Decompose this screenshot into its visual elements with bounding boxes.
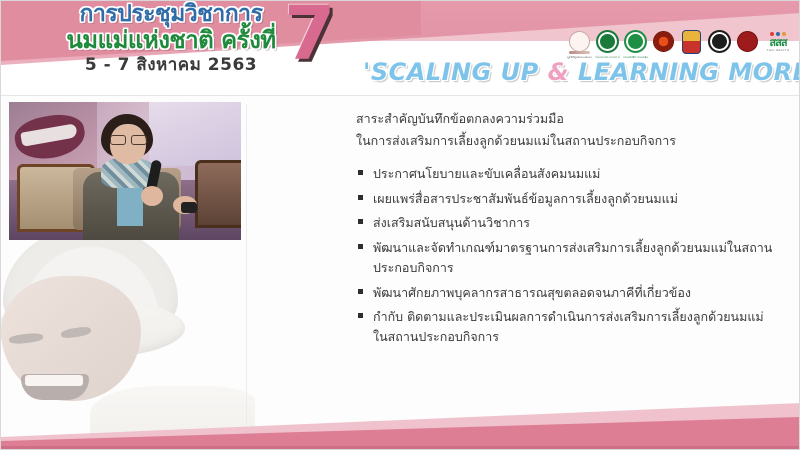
slide-content: สาระสำคัญบันทึกข้อตกลงความร่วมมือ ในการส…	[356, 108, 776, 352]
conference-title: การประชุมวิชาการ นมแม่แห่งชาติ ครั้งที่ …	[21, 3, 321, 74]
slogan-part2: LEARNING MORE'	[569, 58, 800, 86]
conference-title-line1: การประชุมวิชาการ	[21, 3, 321, 26]
speaker-on-stage-photo	[9, 102, 241, 240]
list-item: พัฒนาศักยภาพบุคลากรสาธารณสุขตลอดจนภาคีที…	[356, 283, 776, 303]
ministry-of-public-health-logo-icon: กรมอนามัย กระทรวงสาธารณสุข	[595, 28, 620, 55]
black-circular-institute-logo-icon	[707, 28, 732, 55]
slogan-ampersand: &	[548, 58, 569, 86]
list-item: พัฒนาและจัดทำเกณฑ์มาตรฐานการส่งเสริมการเ…	[356, 238, 776, 278]
slide-body: สาระสำคัญบันทึกข้อตกลงความร่วมมือ ในการส…	[1, 96, 800, 450]
list-item: กำกับ ติดตามและประเมินผลการดำเนินการส่งเ…	[356, 307, 776, 347]
content-divider	[246, 104, 247, 424]
footer-edge-line	[1, 446, 800, 449]
list-item: ประกาศนโยบายและขับเคลื่อนสังคมนมแม่	[356, 164, 776, 184]
edition-number: 7	[284, 1, 336, 71]
slide-footer	[1, 403, 800, 449]
government-seal-logo-icon	[651, 28, 676, 55]
conference-date: 5 - 7 สิงหาคม 2563	[21, 57, 321, 74]
conference-title-line2: นมแม่แห่งชาติ ครั้งที่	[21, 28, 321, 52]
conference-slogan: 'SCALING UP & LEARNING MORE'	[363, 58, 793, 86]
content-lede: สาระสำคัญบันทึกข้อตกลงความร่วมมือ ในการส…	[356, 108, 776, 152]
royal-patronage-emblem-icon: มูลนิธิศูนย์นมแม่แห่งประเทศไทย	[567, 28, 592, 55]
content-bullet-list: ประกาศนโยบายและขับเคลื่อนสังคมนมแม่ เผยแ…	[356, 164, 776, 347]
red-royal-seal-logo-icon	[735, 28, 760, 55]
sponsor-logo-row: มูลนิธิศูนย์นมแม่แห่งประเทศไทย กรมอนามัย…	[567, 28, 793, 55]
slide-header: การประชุมวิชาการ นมแม่แห่งชาติ ครั้งที่ …	[1, 1, 800, 96]
list-item: เผยแพร่สื่อสารประชาสัมพันธ์ข้อมูลการเลี้…	[356, 189, 776, 209]
thaihealth-sss-logo-icon: สสส THAI HEALTH	[763, 28, 793, 55]
department-of-health-logo-icon: กรมสวัสดิการและคุ้มครองแรงงาน	[623, 28, 648, 55]
royal-garuda-emblem-icon	[679, 28, 704, 55]
slogan-part1: 'SCALING UP	[363, 58, 548, 86]
list-item: ส่งเสริมสนับสนุนด้านวิชาการ	[356, 213, 776, 233]
content-lede-line2: ในการส่งเสริมการเลี้ยงลูกด้วยนมแม่ในสถาน…	[356, 130, 776, 152]
presentation-slide: การประชุมวิชาการ นมแม่แห่งชาติ ครั้งที่ …	[0, 0, 800, 450]
content-lede-line1: สาระสำคัญบันทึกข้อตกลงความร่วมมือ	[356, 108, 776, 130]
